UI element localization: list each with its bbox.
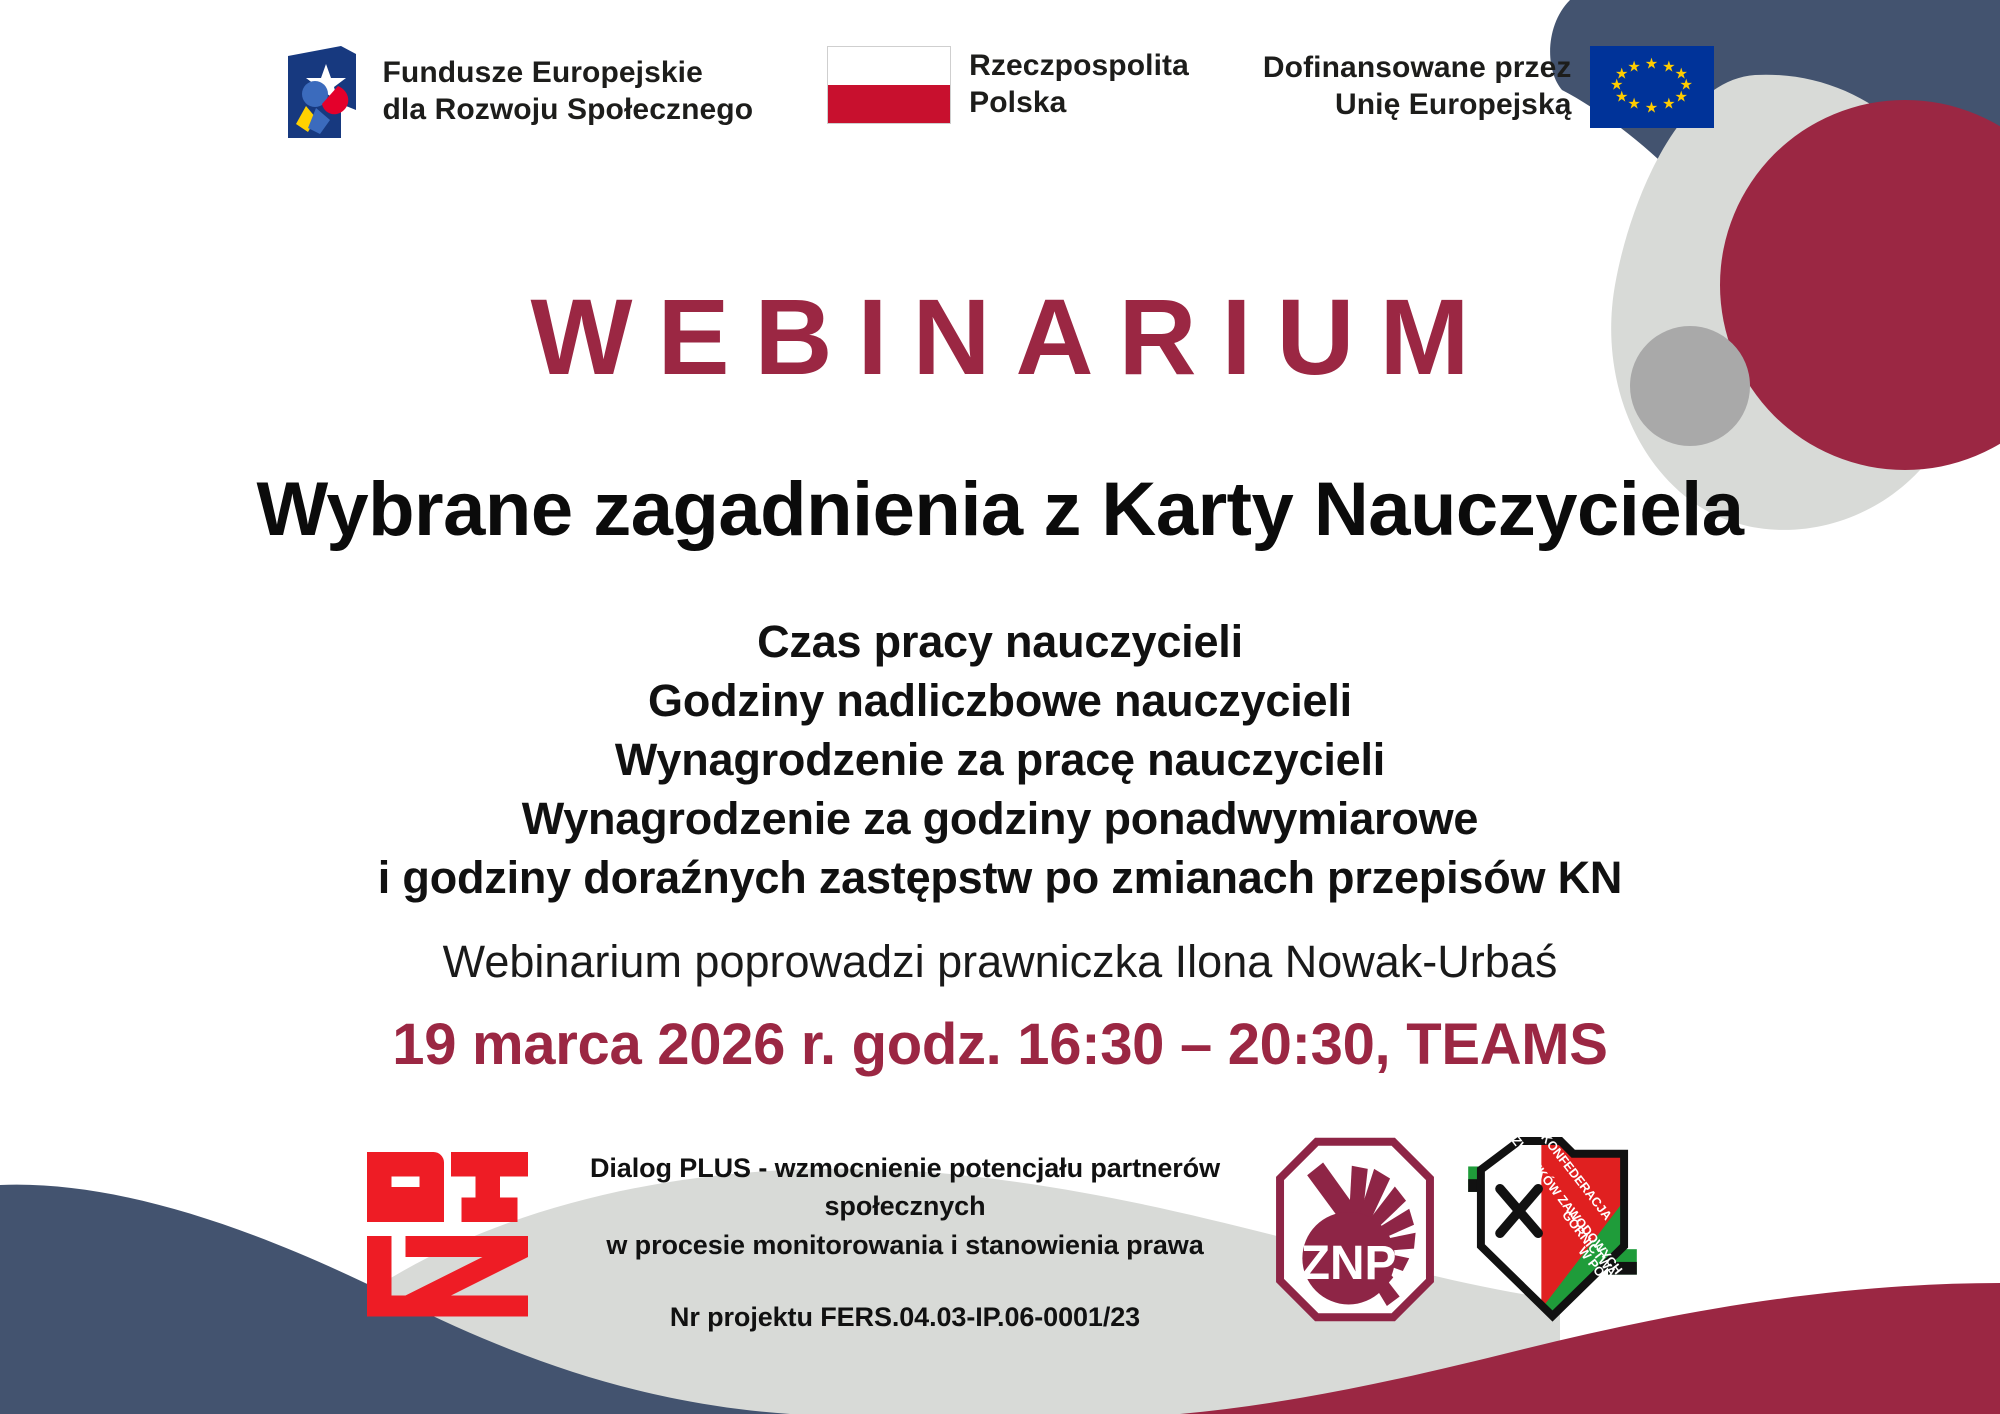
eu-flag-icon: ★ ★ ★ ★ ★ ★ ★ ★ ★ ★ ★ ★ [1590,46,1714,128]
rzeczpospolita-polska-logo: Rzeczpospolita Polska [827,46,1189,124]
poland-flag-icon [827,46,951,124]
rp-line-1: Rzeczpospolita [969,48,1189,85]
event-datetime: 19 marca 2026 r. godz. 16:30 – 20:30, TE… [0,1010,2000,1080]
presenter-line: Webinarium poprowadzi prawniczka Ilona N… [0,935,2000,989]
fundusze-europejskie-label: Fundusze Europejskie dla Rozwoju Społecz… [382,55,753,128]
fe-line-2: dla Rozwoju Społecznego [382,92,753,129]
fundusze-europejskie-mark [286,46,364,138]
project-title: Dialog PLUS - wzmocnienie potencjału par… [565,1149,1245,1264]
project-title-line-1: Dialog PLUS - wzmocnienie potencjału par… [565,1149,1245,1226]
fundusze-europejskie-logo: Fundusze Europejskie dla Rozwoju Społecz… [286,46,753,138]
eu-funding-logo-bar: Fundusze Europejskie dla Rozwoju Społecz… [0,46,2000,138]
svg-text:ZNP: ZNP [1301,1237,1397,1290]
project-info: Dialog PLUS - wzmocnienie potencjału par… [565,1135,1245,1333]
topic-item: i godziny doraźnych zastępstw po zmianac… [0,849,2000,908]
ue-line-1: Dofinansowane przez [1263,50,1572,87]
topic-item: Godziny nadliczbowe nauczycieli [0,672,2000,731]
project-title-line-2: w procesie monitorowania i stanowienia p… [565,1226,1245,1264]
topic-item: Wynagrodzenie za pracę nauczycieli [0,731,2000,790]
page-subtitle: Wybrane zagadnienia z Karty Nauczyciela [0,472,2000,548]
project-number: Nr projektu FERS.04.03-IP.06-0001/23 [565,1302,1245,1333]
fe-line-1: Fundusze Europejskie [382,55,753,92]
rp-line-2: Polska [969,85,1189,122]
topic-item: Czas pracy nauczycieli [0,613,2000,672]
kzzg-logo: KONFEDERACJA ZWIĄZKÓW ZAWODOWYCH GÓRNICT… [1465,1131,1640,1326]
ue-line-2: Unię Europejską [1263,87,1572,124]
page-title: WEBINARIUM [0,283,2000,391]
opzz-logo [360,1145,535,1320]
rzeczpospolita-polska-label: Rzeczpospolita Polska [969,48,1189,121]
topic-list: Czas pracy nauczycieli Godziny nadliczbo… [0,613,2000,908]
znp-logo: ZNP [1275,1137,1435,1322]
webinar-poster: Fundusze Europejskie dla Rozwoju Społecz… [0,0,2000,1414]
dofinansowane-ue-label: Dofinansowane przez Unię Europejską [1263,50,1572,123]
dofinansowane-ue-logo: Dofinansowane przez Unię Europejską ★ ★ … [1263,46,1714,128]
footer-partners: Dialog PLUS - wzmocnienie potencjału par… [0,1135,2000,1333]
topic-item: Wynagrodzenie za godziny ponadwymiarowe [0,790,2000,849]
